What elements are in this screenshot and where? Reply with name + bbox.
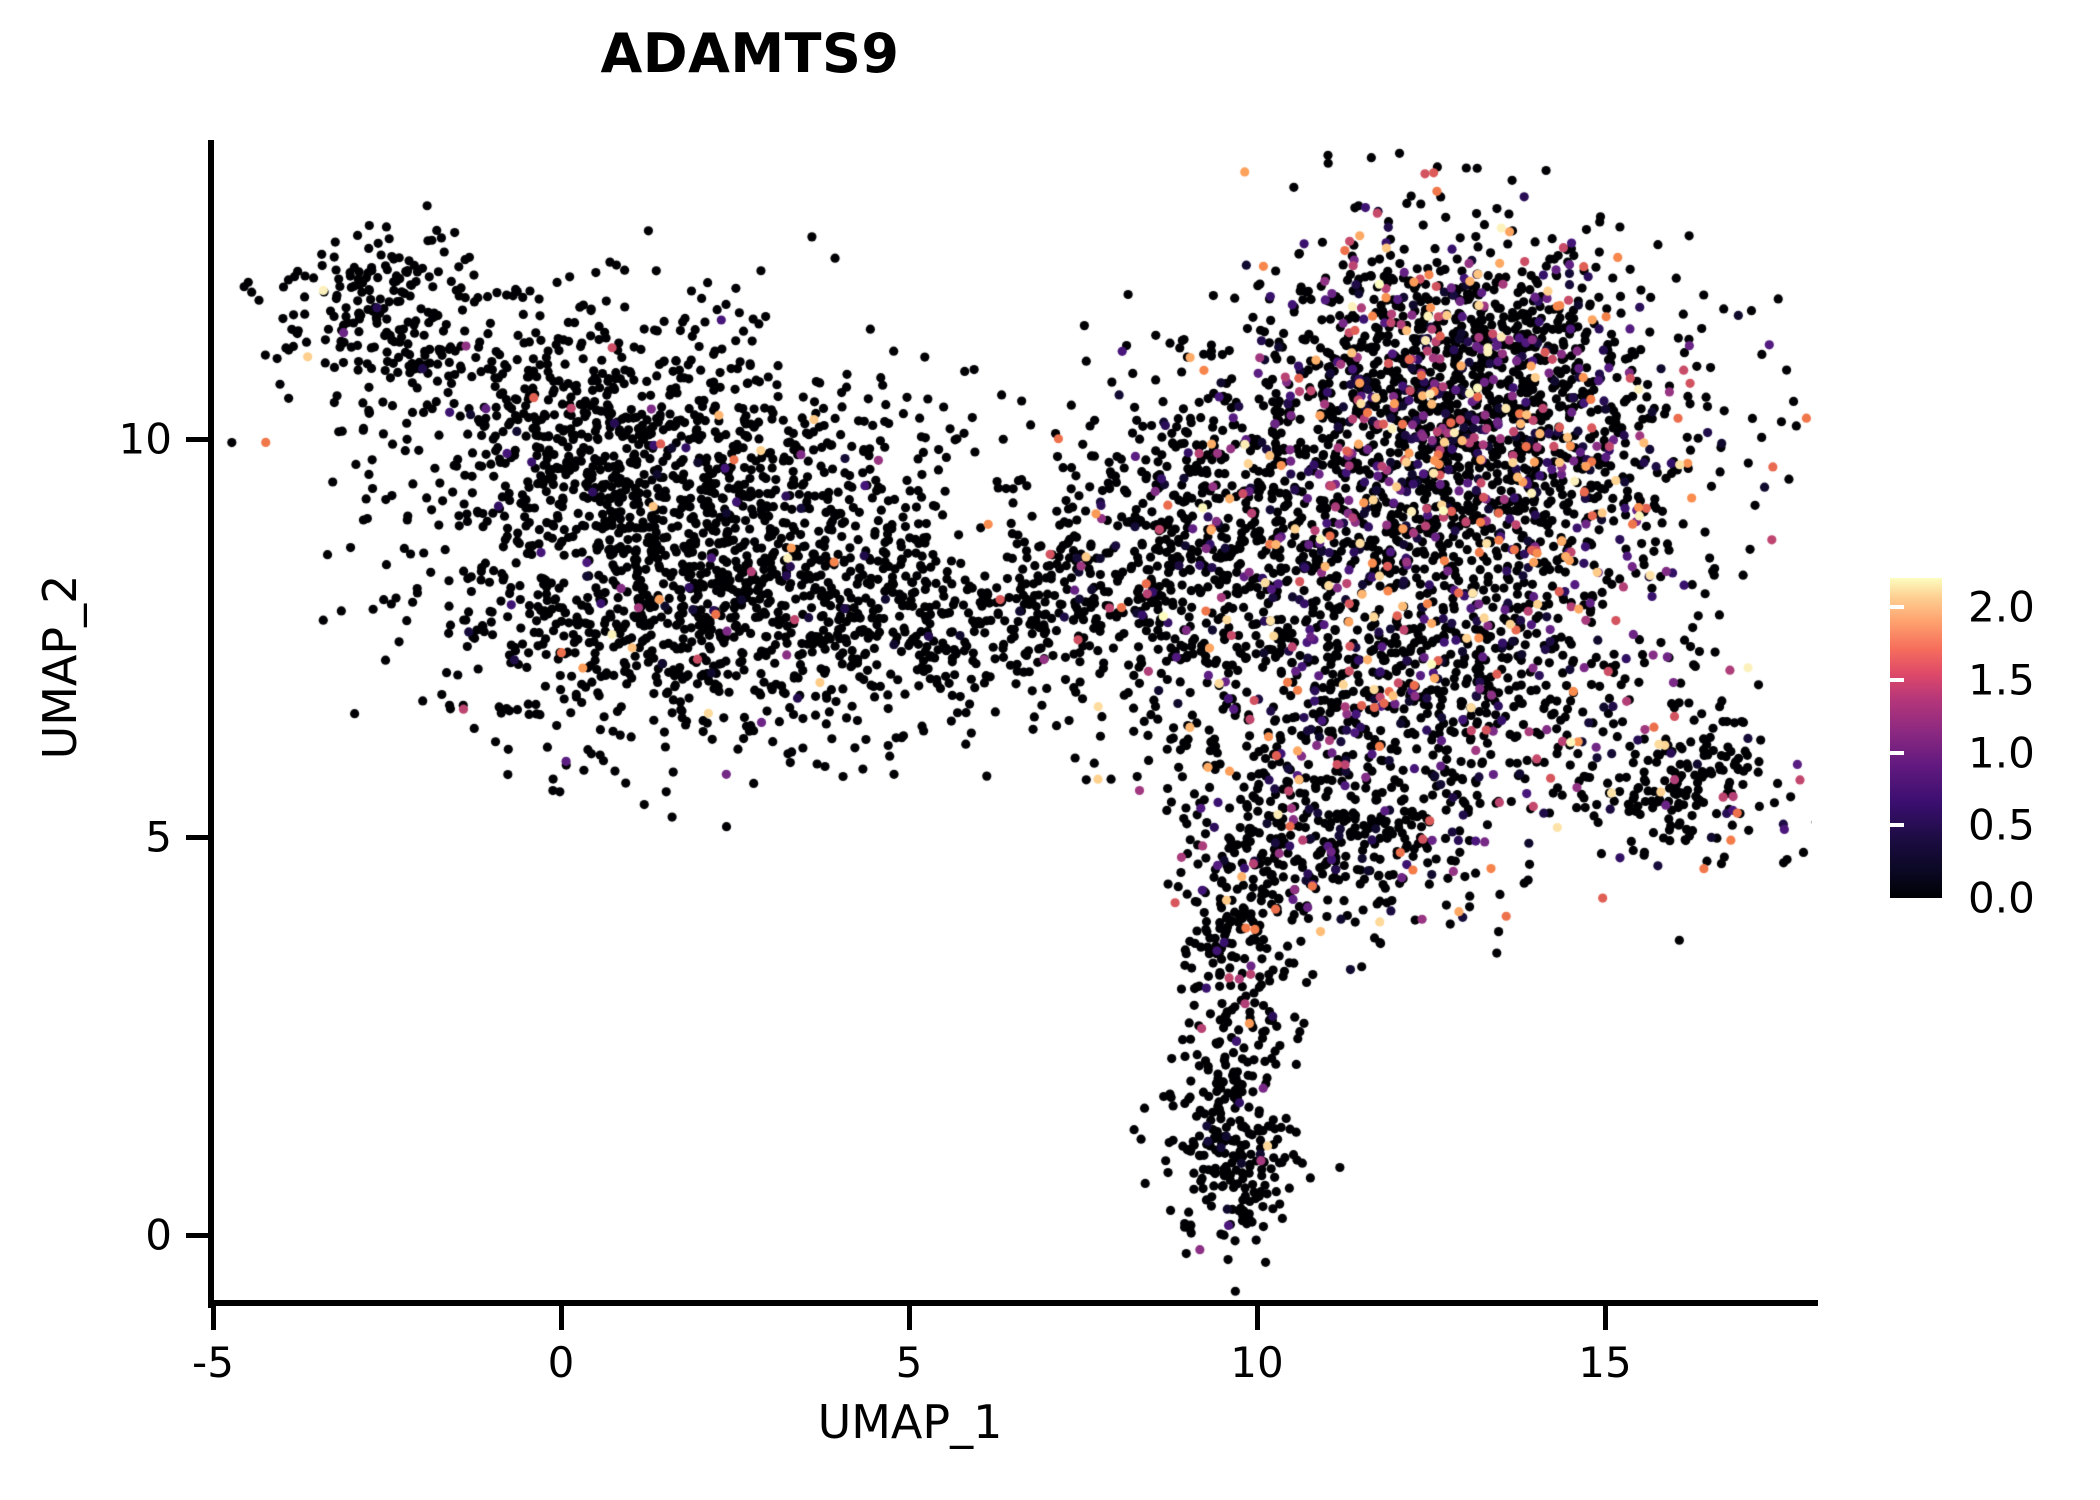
- y-tick-label: 0: [72, 1211, 172, 1260]
- x-tick-mark: [907, 1306, 912, 1330]
- y-axis-label: UMAP_2: [33, 437, 87, 897]
- colorbar-tick-mark: [1876, 823, 1890, 827]
- y-tick-mark: [186, 835, 210, 840]
- colorbar-tick-label: 2.0: [1968, 583, 2035, 632]
- y-tick-mark: [186, 1233, 210, 1238]
- x-tick-mark: [559, 1306, 564, 1330]
- colorbar-tick-mark: [1876, 751, 1890, 755]
- colorbar-tick-mark: [1890, 823, 1904, 827]
- x-tick-mark: [1255, 1306, 1260, 1330]
- colorbar-tick-mark: [1890, 678, 1904, 682]
- colorbar-tick-mark: [1890, 605, 1904, 609]
- x-tick-mark: [211, 1306, 216, 1330]
- y-tick-label: 10: [72, 415, 172, 464]
- colorbar-tick-label: 0.5: [1968, 801, 2035, 850]
- colorbar-tick-mark: [1876, 605, 1890, 609]
- y-tick-mark: [186, 437, 210, 442]
- y-tick-label: 5: [72, 813, 172, 862]
- x-tick-label: 5: [896, 1338, 923, 1387]
- colorbar-gradient: [1890, 578, 1942, 898]
- colorbar-tick-label: 1.5: [1968, 655, 2035, 704]
- scatter-plot-area: [212, 140, 1812, 1303]
- colorbar-tick-label: 1.0: [1968, 728, 2035, 777]
- x-tick-label: 10: [1230, 1338, 1283, 1387]
- x-tick-mark: [1603, 1306, 1608, 1330]
- x-axis-label: UMAP_1: [0, 1395, 1820, 1449]
- x-tick-label: 15: [1578, 1338, 1631, 1387]
- colorbar-tick-label: 0.0: [1968, 874, 2035, 923]
- x-tick-label: 0: [548, 1338, 575, 1387]
- colorbar-tick-mark: [1890, 751, 1904, 755]
- x-tick-label: -5: [192, 1338, 234, 1387]
- page-title: ADAMTS9: [0, 22, 1500, 85]
- umap-feature-plot: ADAMTS9 0510 -5051015 UMAP_1 UMAP_2 2.01…: [0, 0, 2100, 1500]
- colorbar-tick-mark: [1876, 678, 1890, 682]
